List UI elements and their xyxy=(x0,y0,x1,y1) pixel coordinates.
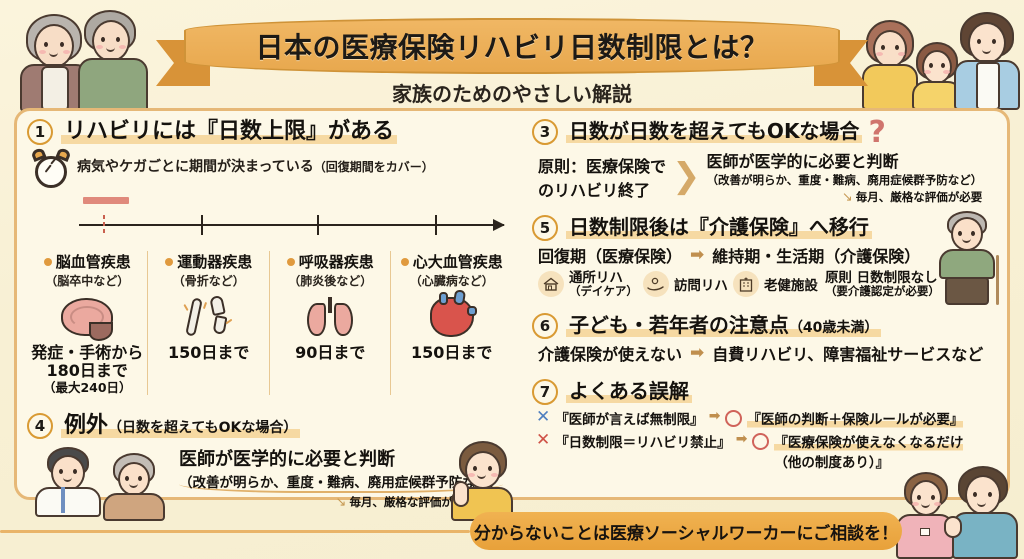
disease-limit-days: 90日まで xyxy=(274,344,386,362)
arrow-right-icon: ➡ xyxy=(709,408,721,424)
section-4-number: 4 xyxy=(27,413,53,439)
section-4-main: 医師が医学的に必要と判断 xyxy=(179,445,512,471)
footer-banner: 分からないことは医療ソーシャルワーカーにご相談を！ xyxy=(470,512,902,550)
section-3-title: 日数が日数を超えてもOKな場合 xyxy=(566,120,863,144)
section-4-heading: 4 例外（日数を超えてもOKな場合） xyxy=(27,413,512,439)
misconception-row: ✕ 『医師が言えば無制限』 ➡ 『医師の判断＋保険ルールが必要』 xyxy=(532,408,997,428)
section-4: 4 例外（日数を超えてもOKな場合） xyxy=(27,413,512,510)
disease-name: 運動器疾患 xyxy=(177,251,252,272)
section-6: 6 子ども・若年者の注意点（40歳未満） 介護保険が使えない ➡ 自費リハビリ、… xyxy=(532,313,997,365)
footer-text: 分からないことは医療ソーシャルワーカーにご相談を！ xyxy=(474,519,898,544)
hook-arrow-icon: ↘ xyxy=(336,495,347,510)
section-5-heading: 5 日数制限後は『介護保険』へ移行 xyxy=(532,215,997,241)
section-7-heading: 7 よくある誤解 xyxy=(532,379,997,405)
section-5: 5 日数制限後は『介護保険』へ移行 回復期（医療保険） ➡ 維持期・生活 xyxy=(532,215,997,297)
page-subtitle: 家族のためのやさしい解説 xyxy=(162,78,862,107)
disease-limit: 発症・手術から 180日まで （最大240日） xyxy=(31,344,143,395)
disease-name-row: 運動器疾患 xyxy=(152,251,264,272)
section-4-title-paren: （日数を超えてもOKな場合） xyxy=(108,420,297,436)
section-7-number: 7 xyxy=(532,379,558,405)
disease-cell: 脳血管疾患 （脳卒中など） 発症・手術から 180日まで （最大240日） xyxy=(27,251,147,395)
disease-limit-extra: （最大240日） xyxy=(31,381,143,395)
heart-icon xyxy=(395,291,507,343)
disease-cell: 運動器疾患 （骨折など） 150日まで xyxy=(147,251,268,395)
section-1-title: リハビリには『日数上限』がある xyxy=(61,119,397,145)
misconception-wrong: 『医師が言えば無制限』 xyxy=(555,408,704,428)
section-6-heading: 6 子ども・若年者の注意点（40歳未満） xyxy=(532,313,997,339)
timeline-axis xyxy=(79,224,504,226)
lungs-icon xyxy=(274,291,386,343)
section-6-title-paren: （40歳未満） xyxy=(789,320,878,336)
house-icon xyxy=(538,271,564,297)
elderly-couple-character xyxy=(8,4,158,108)
timeline-caption: 病気やケガごとに期間が決まっている（回復期間をカバー） xyxy=(77,156,434,189)
service-label: 老健施設 xyxy=(764,274,818,294)
alarm-clock-icon xyxy=(31,149,71,189)
section-6-right: 自費リハビリ、障害福祉サービスなど xyxy=(712,341,983,365)
arrow-right-icon: ➡ xyxy=(736,431,748,447)
misconception-correct-block: 『医療保険が使えなくなるだけ （他の制度あり）』 xyxy=(774,431,963,471)
x-mark-blue-icon: ✕ xyxy=(536,408,550,427)
section-3-note: 毎月、厳格な評価が必要 xyxy=(856,189,983,205)
bullet-icon xyxy=(401,258,409,266)
section-4-note-row: ↘ 毎月、厳格な評価が必要 xyxy=(179,494,476,510)
bullet-icon xyxy=(287,258,295,266)
misconception-correct: 『医療保険が使えなくなるだけ xyxy=(774,431,963,451)
left-column: 1 リハビリには『日数上限』がある 病気やケガごとに期間が決まっている（回復期間… xyxy=(17,111,522,497)
section-5-flow: 回復期（医療保険） ➡ 維持期・生活期（介護保険） xyxy=(532,243,997,267)
misconception-row: ✕ 『日数制限＝リハビリ禁止』 ➡ 『医療保険が使えなくなるだけ （他の制度あり… xyxy=(532,431,997,471)
timeline-caption-row: 病気やケガごとに期間が決まっている（回復期間をカバー） xyxy=(27,149,512,189)
section-3-number: 3 xyxy=(532,119,558,145)
section-6-left: 介護保険が使えない xyxy=(538,341,682,365)
building-icon xyxy=(733,271,759,297)
section-4-note: 毎月、厳格な評価が必要 xyxy=(349,494,476,510)
section-5-rule-main: 原則 日数制限なし xyxy=(825,271,940,285)
question-mark-icon: ? xyxy=(868,122,885,143)
disease-name-row: 呼吸器疾患 xyxy=(274,251,386,272)
section-7-title: よくある誤解 xyxy=(566,380,692,404)
content-card: 1 リハビリには『日数上限』がある 病気やケガごとに期間が決まっている（回復期間… xyxy=(14,108,1010,500)
section-3-left-1: 原則：医療保険で xyxy=(538,153,666,177)
timeline-tick xyxy=(201,215,203,235)
doctor-character xyxy=(33,447,113,515)
service-sub: （デイケア） xyxy=(569,285,638,297)
disease-cell: 心大血管疾患 （心臓病など） 150日まで xyxy=(390,251,511,395)
arrow-right-icon: ➡ xyxy=(690,343,704,363)
disease-sub: （骨折など） xyxy=(152,272,264,289)
section-4-sub: （改善が明らか、重度・難病、廃用症候群予防など） xyxy=(179,471,503,493)
timeline-tick xyxy=(435,215,437,235)
disease-grid: 脳血管疾患 （脳卒中など） 発症・手術から 180日まで （最大240日） xyxy=(27,251,512,395)
bone-fracture-icon xyxy=(152,291,264,343)
elderly-patient-character xyxy=(101,453,173,515)
timeline-red-bar xyxy=(83,197,129,204)
disease-limit-main: 発症・手術から xyxy=(31,344,143,362)
footer-divider-line xyxy=(0,530,470,533)
section-1-heading: 1 リハビリには『日数上限』がある xyxy=(27,119,512,145)
misconception-correct-extra: （他の制度あり）』 xyxy=(774,451,963,471)
brain-icon xyxy=(31,291,143,343)
section-3-right-sub: （改善が明らか、重度・難病、廃用症候群予防など） xyxy=(706,172,982,188)
disease-limit-days: 150日まで xyxy=(395,344,507,362)
section-3-heading: 3 日数が日数を超えてもOKな場合 ? xyxy=(532,119,997,145)
timeline-tick xyxy=(103,215,105,235)
disease-limit: 150日まで xyxy=(395,344,507,362)
disease-limit-days: 150日まで xyxy=(152,344,264,362)
disease-name-row: 心大血管疾患 xyxy=(395,251,507,272)
section-5-title: 日数制限後は『介護保険』へ移行 xyxy=(566,216,872,240)
section-1: 1 リハビリには『日数上限』がある 病気やケガごとに期間が決まっている（回復期間… xyxy=(27,119,512,395)
disease-sub: （心臓病など） xyxy=(395,272,507,289)
section-7: 7 よくある誤解 ✕ 『医師が言えば無制限』 ➡ 『医師の判断＋保険ルールが必要… xyxy=(532,379,997,471)
circle-mark-icon xyxy=(725,410,742,427)
section-5-rule-sub: （要介護認定が必要） xyxy=(825,285,940,297)
disease-name: 脳血管疾患 xyxy=(56,251,131,272)
section-4-title: 例外（日数を超えてもOKな場合） xyxy=(61,413,300,439)
section-6-body: 介護保険が使えない ➡ 自費リハビリ、障害福祉サービスなど xyxy=(532,341,997,365)
ribbon-banner: 日本の医療保険リハビリ日数制限とは？ xyxy=(184,18,840,74)
section-3-note-row: ↘ 毎月、厳格な評価が必要 xyxy=(706,189,982,205)
hand-care-icon xyxy=(643,271,669,297)
title-ribbon: 日本の医療保険リハビリ日数制限とは？ 家族のためのやさしい解説 xyxy=(162,14,862,100)
section-5-number: 5 xyxy=(532,215,558,241)
section-3-left-2: のリハビリ終了 xyxy=(538,177,666,201)
x-mark-red-icon: ✕ xyxy=(536,431,550,450)
disease-limit: 150日まで xyxy=(152,344,264,362)
page-title: 日本の医療保険リハビリ日数制限とは？ xyxy=(255,26,768,66)
service-label: 通所リハ xyxy=(569,271,638,285)
right-column: 3 日数が日数を超えてもOKな場合 ? 原則：医療保険で のリハビリ終了 ❯ 医… xyxy=(522,111,1007,497)
arrow-right-icon: ➡ xyxy=(690,245,704,265)
section-5-from: 回復期（医療保険） xyxy=(538,243,682,267)
disease-name-row: 脳血管疾患 xyxy=(31,251,143,272)
section-5-services: 通所リハ （デイケア） 訪問リハ 老健施設 原則 日数制限なし （要介護認定が必… xyxy=(532,271,997,297)
timeline-tick xyxy=(317,215,319,235)
timeline-caption-sub: （回復期間をカバー） xyxy=(314,160,434,174)
service-label-block: 通所リハ （デイケア） xyxy=(569,271,638,297)
disease-sub: （脳卒中など） xyxy=(31,272,143,289)
section-6-number: 6 xyxy=(532,313,558,339)
disease-sub: （肺炎後など） xyxy=(274,272,386,289)
hook-arrow-icon: ↘ xyxy=(842,190,853,205)
circle-mark-icon xyxy=(752,433,769,450)
bullet-icon xyxy=(44,258,52,266)
misconception-wrong: 『日数制限＝リハビリ禁止』 xyxy=(555,431,731,451)
section-3-right-title: 医師が医学的に必要と判断 xyxy=(706,148,982,172)
section-3: 3 日数が日数を超えてもOKな場合 ? 原則：医療保険で のリハビリ終了 ❯ 医… xyxy=(532,119,997,205)
misconception-correct: 『医師の判断＋保険ルールが必要』 xyxy=(747,408,963,428)
chevron-right-icon: ❯ xyxy=(672,163,701,190)
section-5-to: 維持期・生活期（介護保険） xyxy=(712,243,920,267)
service-label: 訪問リハ xyxy=(674,274,728,294)
family-character xyxy=(862,2,1024,108)
section-3-body: 原則：医療保険で のリハビリ終了 ❯ 医師が医学的に必要と判断 （改善が明らか、… xyxy=(532,148,997,205)
disease-limit: 90日まで xyxy=(274,344,386,362)
bullet-icon xyxy=(165,258,173,266)
infographic-root: 日本の医療保険リハビリ日数制限とは？ 家族のためのやさしい解説 1 リハビリには… xyxy=(0,0,1024,559)
section-5-rule: 原則 日数制限なし （要介護認定が必要） xyxy=(825,271,940,297)
disease-limit-days: 180日まで xyxy=(31,362,143,380)
disease-cell: 呼吸器疾患 （肺炎後など） 90日まで xyxy=(269,251,390,395)
section-6-title: 子ども・若年者の注意点（40歳未満） xyxy=(566,314,881,338)
disease-name: 呼吸器疾患 xyxy=(299,251,374,272)
section-1-number: 1 xyxy=(27,119,53,145)
disease-name: 心大血管疾患 xyxy=(413,251,503,272)
